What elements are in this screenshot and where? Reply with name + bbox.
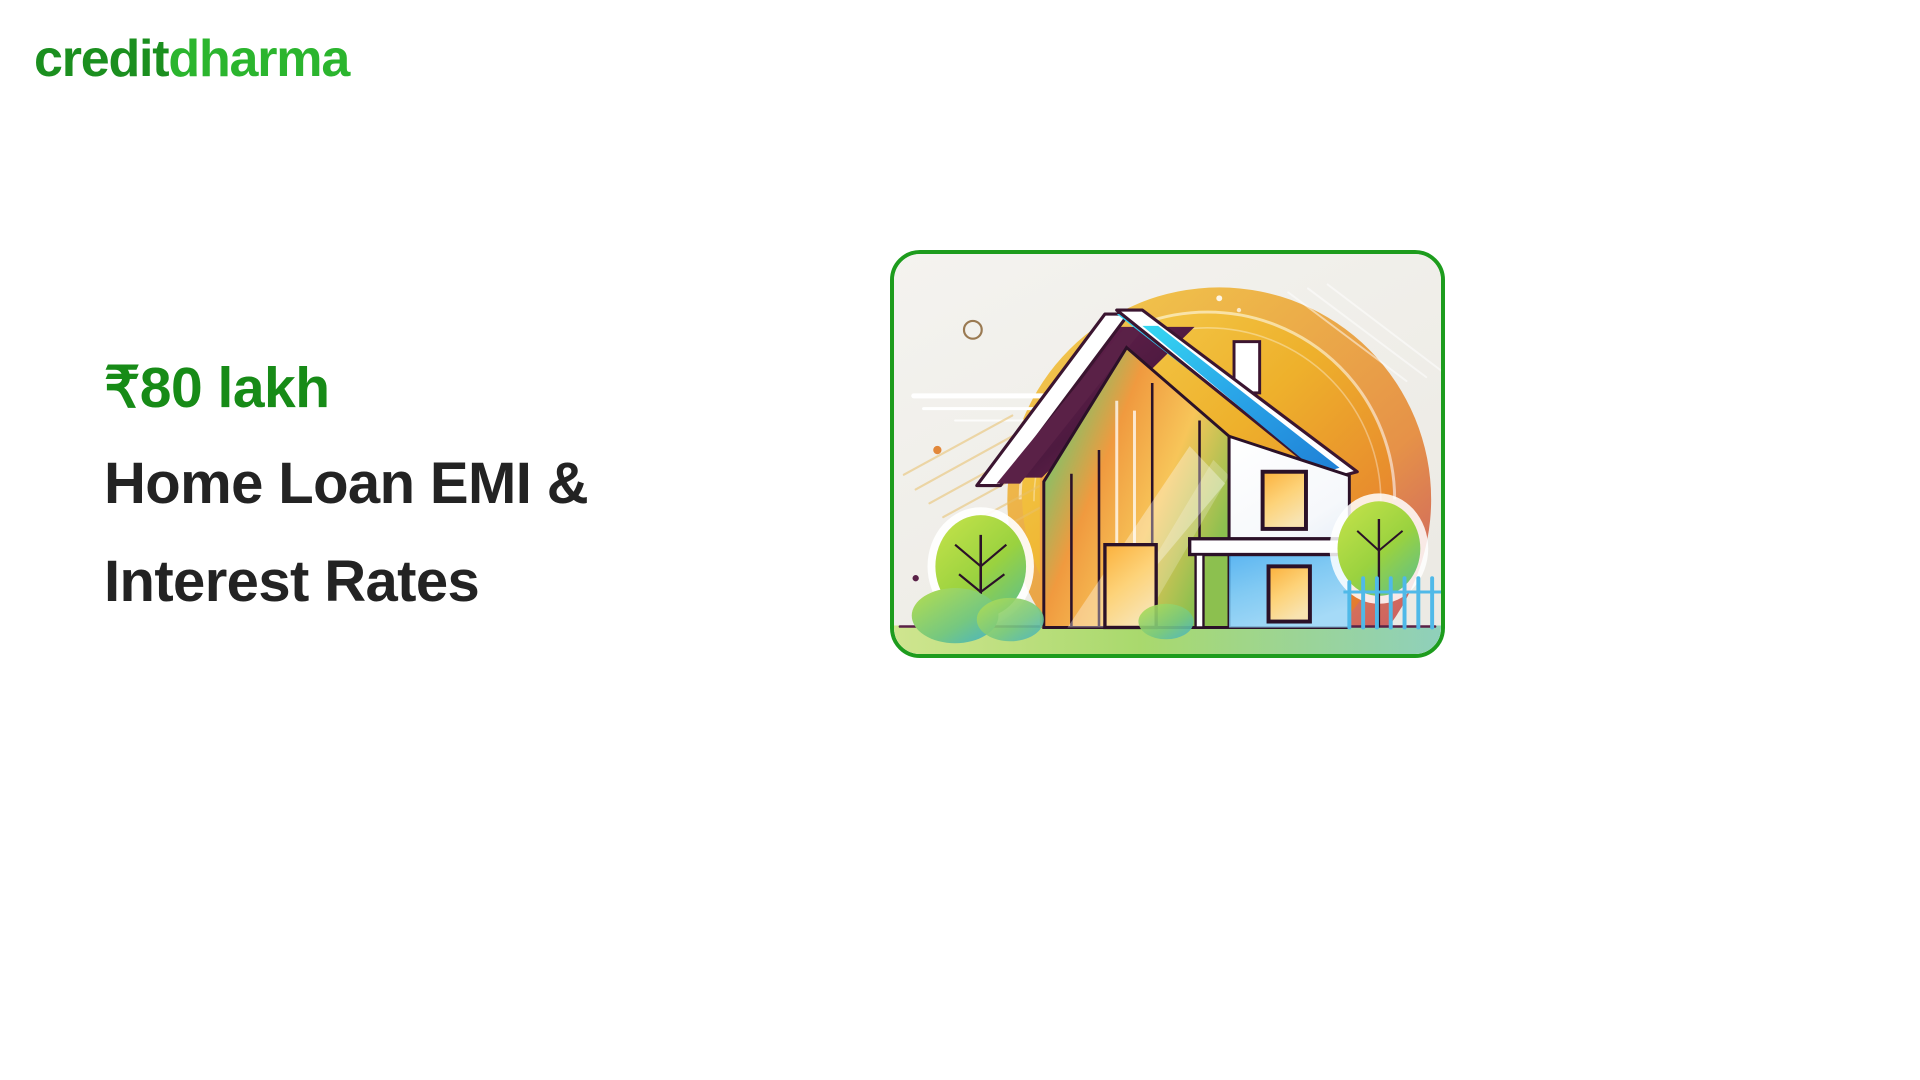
brand-logo-dharma: dharma bbox=[168, 30, 349, 88]
brand-logo-credit: credit bbox=[34, 30, 168, 88]
house-illustration-icon bbox=[894, 254, 1441, 654]
page-title-line-2: Interest Rates bbox=[104, 553, 824, 611]
brand-logo[interactable]: creditdharma bbox=[34, 33, 349, 85]
page-title-line-1: Home Loan EMI & bbox=[104, 455, 824, 513]
house-illustration-card bbox=[890, 250, 1445, 658]
loan-amount-text: ₹80 lakh bbox=[104, 360, 824, 417]
headline-block: ₹80 lakh Home Loan EMI & Interest Rates bbox=[104, 360, 824, 611]
fence-icon bbox=[1349, 578, 1432, 627]
